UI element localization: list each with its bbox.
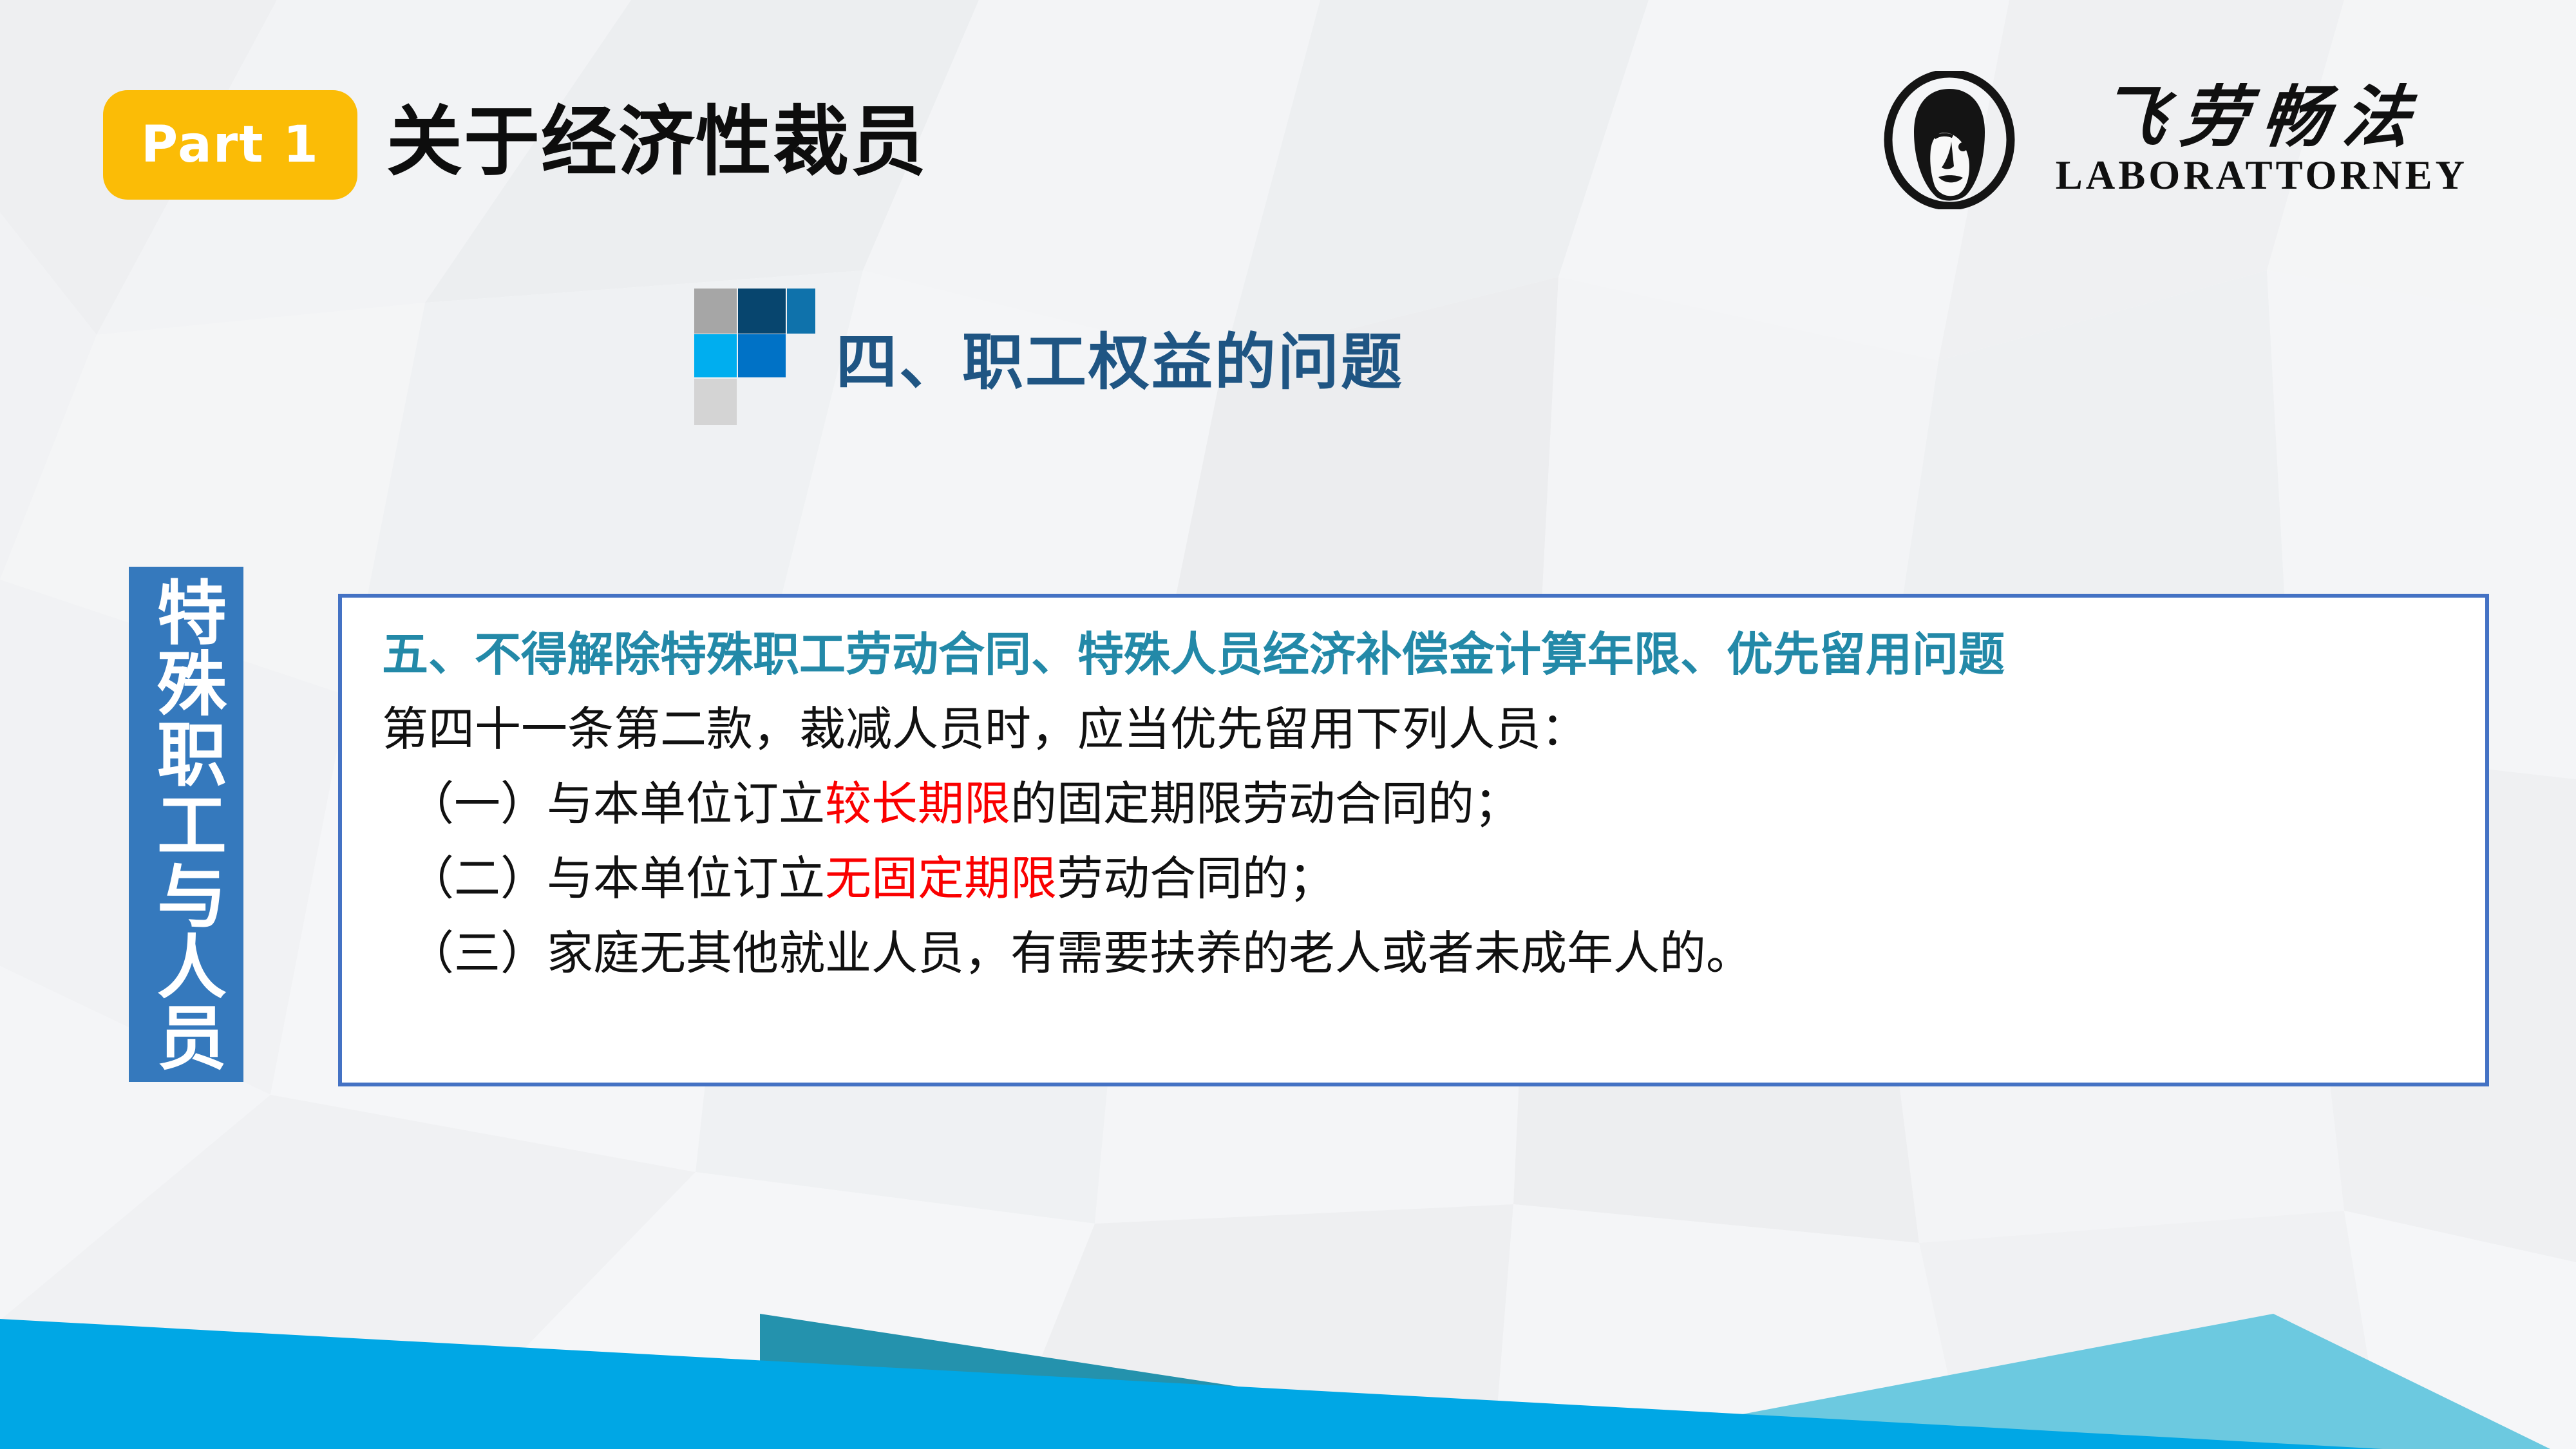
logo-chinese-name: 飞劳畅法: [2096, 82, 2427, 152]
list-item-prefix: （三）家庭无其他就业人员，有需要扶养的老人或者未成年人的。: [408, 928, 1752, 980]
square-gray-bottom: [694, 379, 737, 425]
list-item: （一）与本单位订立较长期限的固定期限劳动合同的；: [408, 775, 2485, 833]
square-cyan: [694, 334, 737, 377]
logo-english-name: LABORATTORNEY: [2056, 153, 2468, 198]
slide-header: Part 1 关于经济性裁员 飞劳畅法 LABORATTORNEY: [0, 0, 2576, 213]
side-tab-label: 特殊职工与人员: [148, 576, 224, 1072]
content-box: 五、不得解除特殊职工劳动合同、特殊人员经济补偿金计算年限、优先留用问题 第四十一…: [338, 594, 2489, 1086]
slide-canvas: Part 1 关于经济性裁员 飞劳畅法 LABORATTORNEY: [0, 0, 2576, 1449]
list-item-prefix: （二）与本单位订立: [408, 853, 825, 905]
square-blue-mid: [738, 334, 786, 377]
logo-wordmark: 飞劳畅法 LABORATTORNEY: [2056, 82, 2468, 198]
side-tab: 特殊职工与人员: [129, 567, 243, 1082]
section-heading: 四、职工权益的问题: [689, 283, 1404, 431]
brand-logo: 飞劳畅法 LABORATTORNEY: [1882, 71, 2468, 209]
bottom-decoration: [0, 1269, 2576, 1449]
square-gray-top: [694, 289, 737, 334]
square-motif-icon: [689, 283, 805, 431]
part-badge: Part 1: [103, 90, 357, 200]
list-item-suffix: 的固定期限劳动合同的；: [1010, 779, 1520, 830]
part-badge-label: Part 1: [141, 120, 319, 170]
portrait-circle-logo-icon: [1882, 71, 2017, 209]
list-item: （二）与本单位订立无固定期限劳动合同的；: [408, 850, 2485, 908]
list-item-prefix: （一）与本单位订立: [408, 779, 825, 830]
list-item-highlight: 较长期限: [825, 779, 1010, 830]
list-item: （三）家庭无其他就业人员，有需要扶养的老人或者未成年人的。: [408, 925, 2485, 983]
list-item-suffix: 劳动合同的；: [1057, 853, 1335, 905]
square-dark-blue: [738, 289, 786, 334]
square-blue-top-right: [787, 289, 815, 334]
content-intro: 第四十一条第二款，裁减人员时，应当优先留用下列人员：: [382, 701, 2485, 759]
page-title: 关于经济性裁员: [386, 91, 927, 194]
content-heading: 五、不得解除特殊职工劳动合同、特殊人员经济补偿金计算年限、优先留用问题: [382, 626, 2485, 684]
list-item-highlight: 无固定期限: [825, 853, 1057, 905]
section-title: 四、职工权益的问题: [836, 332, 1404, 393]
